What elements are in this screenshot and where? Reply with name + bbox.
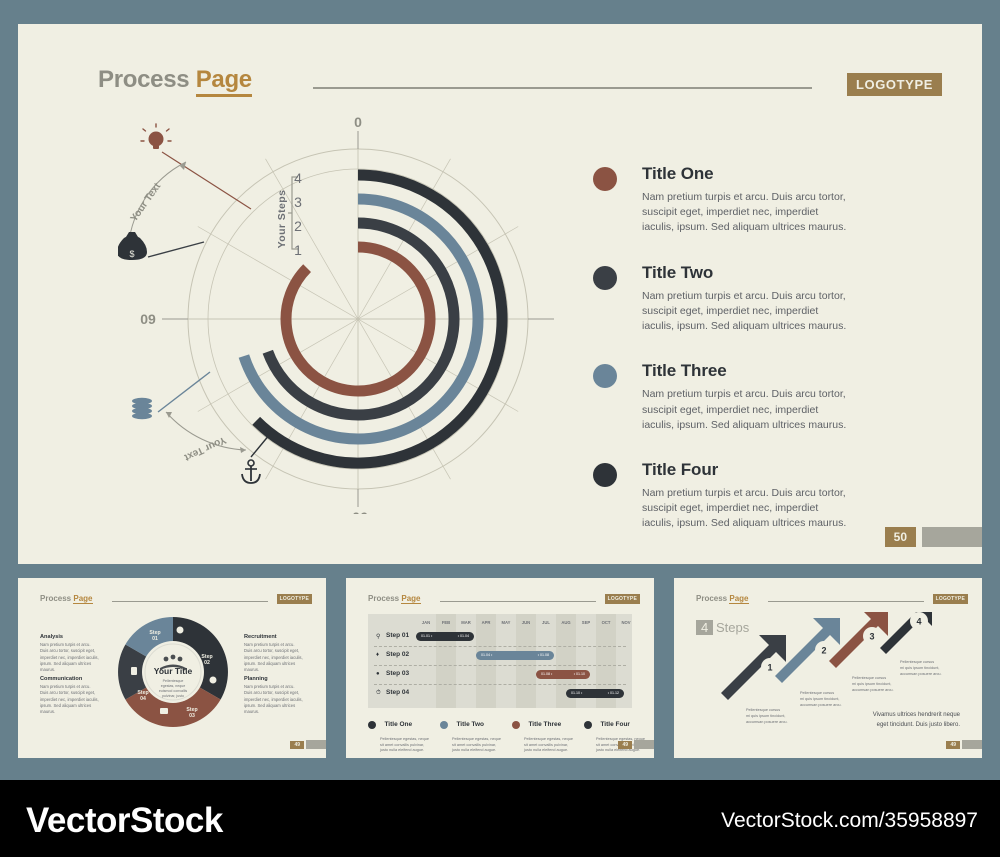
thumb1-flask-icon <box>131 667 137 675</box>
thumb1-stopwatch-icon <box>210 677 217 684</box>
step-tick-1: 1 <box>294 242 302 258</box>
gantt-month-mar: MAR <box>456 620 476 625</box>
thumb1-head: Communication <box>40 676 100 682</box>
svg-text:mi quis ipsum tincidunt,: mi quis ipsum tincidunt, <box>800 697 839 701</box>
gantt-bar-4-end: • 01.12 <box>608 689 619 698</box>
page-title-word2: Page <box>196 66 252 97</box>
svg-text:$: $ <box>129 249 134 259</box>
watermark-bar: VectorStock VectorStock.com/35958897 <box>0 780 1000 857</box>
gantt-bar-1[interactable]: 01.01 • • 01.04 <box>416 632 474 641</box>
magnifier-icon: ⚲ <box>376 633 380 640</box>
thumbnail-slide-donut[interactable]: Process Page LOGOTYPE Analysis Nam preti… <box>18 578 326 758</box>
thumb1-header: Process Page LOGOTYPE <box>40 594 312 608</box>
legend-title: Title Three <box>642 361 847 381</box>
thumb1-step-02-number: 02 <box>204 660 210 666</box>
svg-text:accumsan posuere arcu.: accumsan posuere arcu. <box>746 720 788 724</box>
gantt-chart: JAN FEB MAR APR MAY JUN JUL AUG SEP OCT … <box>368 614 632 708</box>
svg-text:Pellentesque cursus: Pellentesque cursus <box>800 691 834 695</box>
thumb3-outro-text: Vivamus ultrices hendrerit neque eget ti… <box>868 711 960 730</box>
thumb2-page-bar <box>634 740 654 749</box>
thumb1-text-analysis: Analysis Nam pretium turpis et arcu. Dui… <box>40 634 100 673</box>
steps-axis-label: Your Steps <box>276 190 288 249</box>
legend-dot-icon <box>593 266 617 290</box>
thumb3-badge-4: 4 <box>916 617 921 627</box>
legend-dot-icon <box>512 721 520 729</box>
screenshot-root: Process Page LOGOTYPE <box>0 0 1000 857</box>
legend-dot-icon <box>368 721 376 729</box>
logotype-badge: LOGOTYPE <box>847 73 942 96</box>
thumb1-head: Analysis <box>40 634 100 640</box>
gantt-row-label-4: Step 04 <box>386 689 409 696</box>
thumb1-title-word1: Process <box>40 594 71 603</box>
gantt-bar-3-end: • 01.10 <box>574 670 585 679</box>
thumb3-divider <box>768 601 924 602</box>
page-number-bar <box>922 527 982 547</box>
thumb2-title-word1: Process <box>368 594 399 603</box>
svg-text:accumsan posuere arcu.: accumsan posuere arcu. <box>852 688 894 692</box>
gantt-row-label-2: Step 02 <box>386 651 409 658</box>
svg-text:pulvinar, justo: pulvinar, justo <box>162 694 184 698</box>
page-number-badge: 50 <box>885 527 916 547</box>
gantt-bar-2-start: 01.04 • <box>481 651 492 660</box>
step-tick-4: 4 <box>294 170 302 186</box>
thumb1-head: Planning <box>244 676 304 682</box>
thumb1-text-communication: Communication Nam pretium turpis et arcu… <box>40 676 100 715</box>
thumb3-title-word2: Page <box>729 594 748 604</box>
gantt-month-aug: AUG <box>556 620 576 625</box>
thumb1-divider <box>112 601 268 602</box>
thumb3-title-word1: Process <box>696 594 727 603</box>
watermark-url: VectorStock.com/35958897 <box>721 809 978 833</box>
thumb1-body-text: Nam pretium turpis et arcu. Duis arcu to… <box>244 684 304 715</box>
slide-header: Process Page LOGOTYPE <box>98 66 942 106</box>
coins-stack-icon <box>132 398 152 419</box>
svg-text:euismod convallis: euismod convallis <box>159 689 188 693</box>
pin-icon: ● <box>376 671 380 677</box>
thumb3-logotype: LOGOTYPE <box>933 594 968 604</box>
legend-dot-icon <box>593 364 617 388</box>
gantt-month-jun: JUN <box>516 620 536 625</box>
thumb2-header: Process Page LOGOTYPE <box>368 594 640 608</box>
thumb2-legend-title: Title Four <box>600 721 630 728</box>
thumb3-page-bar <box>962 740 982 749</box>
thumb1-page-number: 49 <box>290 741 304 749</box>
thumb1-body: Analysis Nam pretium turpis et arcu. Dui… <box>18 612 326 736</box>
gantt-row-label-1: Step 01 <box>386 632 409 639</box>
thumb1-page-bar <box>306 740 326 749</box>
svg-text:Pellentesque cursus: Pellentesque cursus <box>746 708 780 712</box>
legend-description: Nam pretium turpis et arcu. Duis arcu to… <box>642 190 847 236</box>
thumb2-legend: Title One Pellentesque egestas, neque si… <box>368 716 646 754</box>
step-tick-2: 2 <box>294 218 302 234</box>
gantt-bar-3-start: 01.08 • <box>541 670 552 679</box>
thumb2-logotype: LOGOTYPE <box>605 594 640 604</box>
thumb1-title-word2: Page <box>73 594 92 604</box>
svg-text:egestas, neque: egestas, neque <box>161 684 186 688</box>
legend-dot-icon <box>593 463 617 487</box>
legend-dot-icon <box>593 167 617 191</box>
annotation-label-2: Your Text <box>182 434 228 463</box>
thumb1-text-planning: Planning Nam pretium turpis et arcu. Dui… <box>244 676 304 715</box>
thumb1-body-text: Nam pretium turpis et arcu. Duis arcu to… <box>244 642 304 673</box>
gantt-bar-4-start: 01.10 • <box>571 689 582 698</box>
thumb1-head: Recruitment <box>244 634 304 640</box>
svg-text:accumsan posuere arcu.: accumsan posuere arcu. <box>800 703 842 707</box>
thumb1-step-03-number: 03 <box>189 713 195 719</box>
thumb1-step-04-number: 04 <box>140 696 146 702</box>
gantt-month-apr: APR <box>476 620 496 625</box>
thumb2-page-number: 49 <box>618 741 632 749</box>
gantt-bar-3[interactable]: 01.08 • • 01.10 <box>536 670 590 679</box>
gantt-bar-1-end: • 01.04 <box>458 632 469 641</box>
legend-item-title-two[interactable]: Title Two Nam pretium turpis et arcu. Du… <box>593 263 873 335</box>
legend-item-title-four[interactable]: Title Four Nam pretium turpis et arcu. D… <box>593 460 873 532</box>
legend-description: Nam pretium turpis et arcu. Duis arcu to… <box>642 486 847 532</box>
thumb1-logotype: LOGOTYPE <box>277 594 312 604</box>
lightbulb-icon <box>141 124 171 149</box>
radial-tick-06: 06 <box>352 509 368 514</box>
thumb3-badge-1: 1 <box>767 663 772 673</box>
thumb3-page-number: 49 <box>946 741 960 749</box>
gantt-month-jan: JAN <box>416 620 436 625</box>
svg-text:accumsan posuere arcu.: accumsan posuere arcu. <box>900 672 942 676</box>
radial-tick-09: 09 <box>140 311 156 327</box>
watermark-brand: VectorStock <box>26 801 223 841</box>
radial-chart-svg: 4 3 2 1 Your Steps 0 03 06 09 <box>118 114 558 514</box>
thumb1-body-text: Nam pretium turpis et arcu. Duis arcu to… <box>40 684 100 715</box>
gantt-bar-2-end: • 01.08 <box>538 651 549 660</box>
thumb2-title-word2: Page <box>401 594 420 604</box>
header-divider <box>313 87 812 89</box>
legend-item-title-three[interactable]: Title Three Nam pretium turpis et arcu. … <box>593 361 873 433</box>
gantt-month-jul: JUL <box>536 620 556 625</box>
radial-bar-chart: 4 3 2 1 Your Steps 0 03 06 09 <box>118 114 558 514</box>
legend-description: Nam pretium turpis et arcu. Duis arcu to… <box>642 289 847 335</box>
thumb2-legend-desc: Pellentesque egestas, neque sit amet con… <box>380 737 430 754</box>
annotation-label-1: Your Text <box>129 181 164 224</box>
thumb2-legend-desc: Pellentesque egestas, neque sit amet con… <box>452 737 502 754</box>
chart-grid <box>173 134 543 504</box>
step-tick-3: 3 <box>294 194 302 210</box>
thumb1-body-text: Nam pretium turpis et arcu. Duis arcu to… <box>40 642 100 673</box>
svg-text:mi quis ipsum tincidunt,: mi quis ipsum tincidunt, <box>852 682 891 686</box>
thumb2-body: JAN FEB MAR APR MAY JUN JUL AUG SEP OCT … <box>346 612 654 736</box>
legend-title: Title Four <box>642 460 847 480</box>
radial-tick-0: 0 <box>354 114 362 130</box>
svg-text:Pellentesque cursus: Pellentesque cursus <box>900 660 934 664</box>
anchor-icon <box>242 460 260 483</box>
thumb1-center-title: Your Title <box>154 666 193 676</box>
thumb2-legend-desc: Pellentesque egestas, neque sit amet con… <box>524 737 574 754</box>
thumb1-text-recruitment: Recruitment Nam pretium turpis et arcu. … <box>244 634 304 673</box>
legend-title: Title One <box>642 164 847 184</box>
main-slide: Process Page LOGOTYPE <box>18 24 982 564</box>
gantt-row-label-3: Step 03 <box>386 670 409 677</box>
gantt-month-sep: SEP <box>576 620 596 625</box>
page-title-word1: Process <box>98 66 189 93</box>
thumb3-header: Process Page LOGOTYPE <box>696 594 968 608</box>
thumb1-step-01-number: 01 <box>152 636 158 642</box>
thumb3-badge-3: 3 <box>869 632 874 642</box>
thumb3-body: 4 Steps Lorem Ipsum 1 Pellentesque cursu… <box>674 612 982 736</box>
svg-text:Pellentesque: Pellentesque <box>163 679 184 683</box>
legend-dot-icon <box>440 721 448 729</box>
clock-icon: ⏱ <box>376 690 381 697</box>
gantt-bar-1-start: 01.01 • <box>421 632 432 641</box>
legend-description: Nam pretium turpis et arcu. Duis arcu to… <box>642 387 847 433</box>
thumbnail-slide-arrows[interactable]: Process Page LOGOTYPE 4 Steps Lorem Ipsu… <box>674 578 982 758</box>
thumb1-donut-chart: Your Title Pellentesque egestas, neque e… <box>108 610 238 734</box>
thumb2-legend-item-1[interactable]: Title One Pellentesque egestas, neque si… <box>368 716 430 754</box>
drop-icon: ♦ <box>376 652 379 658</box>
legend-title: Title Two <box>642 263 847 283</box>
legend-item-title-one[interactable]: Title One Nam pretium turpis et arcu. Du… <box>593 164 873 236</box>
svg-text:mi quis ipsum tincidunt,: mi quis ipsum tincidunt, <box>746 714 785 718</box>
gantt-month-nov: NOV <box>616 620 636 625</box>
svg-text:Pellentesque cursus: Pellentesque cursus <box>852 676 886 680</box>
thumb1-lightbulb-icon <box>177 627 184 634</box>
annotation-lower-left: Your Text <box>132 372 246 463</box>
thumb3-badge-2: 2 <box>821 646 826 656</box>
thumb1-folder-icon <box>160 708 168 714</box>
page-title: Process Page <box>98 66 942 94</box>
thumb2-legend-item-2[interactable]: Title Two Pellentesque egestas, neque si… <box>440 716 502 754</box>
thumb2-divider <box>440 601 596 602</box>
gantt-bar-4[interactable]: 01.10 • • 01.12 <box>566 689 624 698</box>
thumbnail-slide-gantt[interactable]: Process Page LOGOTYPE JAN FEB MAR APR MA… <box>346 578 654 758</box>
thumb2-legend-title: Title Two <box>456 721 484 728</box>
money-bag-icon: $ <box>118 232 147 260</box>
gantt-month-feb: FEB <box>436 620 456 625</box>
thumb2-legend-title: Title Three <box>528 721 561 728</box>
svg-text:mi quis ipsum tincidunt,: mi quis ipsum tincidunt, <box>900 666 939 670</box>
chart-legend: Title One Nam pretium turpis et arcu. Du… <box>593 164 873 559</box>
thumb2-legend-item-3[interactable]: Title Three Pellentesque egestas, neque … <box>512 716 574 754</box>
gantt-month-may: MAY <box>496 620 516 625</box>
annotation-money-bag: $ <box>118 232 204 260</box>
annotation-anchor <box>242 434 270 483</box>
gantt-month-oct: OCT <box>596 620 616 625</box>
legend-dot-icon <box>584 721 592 729</box>
gantt-bar-2[interactable]: 01.04 • • 01.08 <box>476 651 554 660</box>
thumb2-legend-title: Title One <box>384 721 412 728</box>
